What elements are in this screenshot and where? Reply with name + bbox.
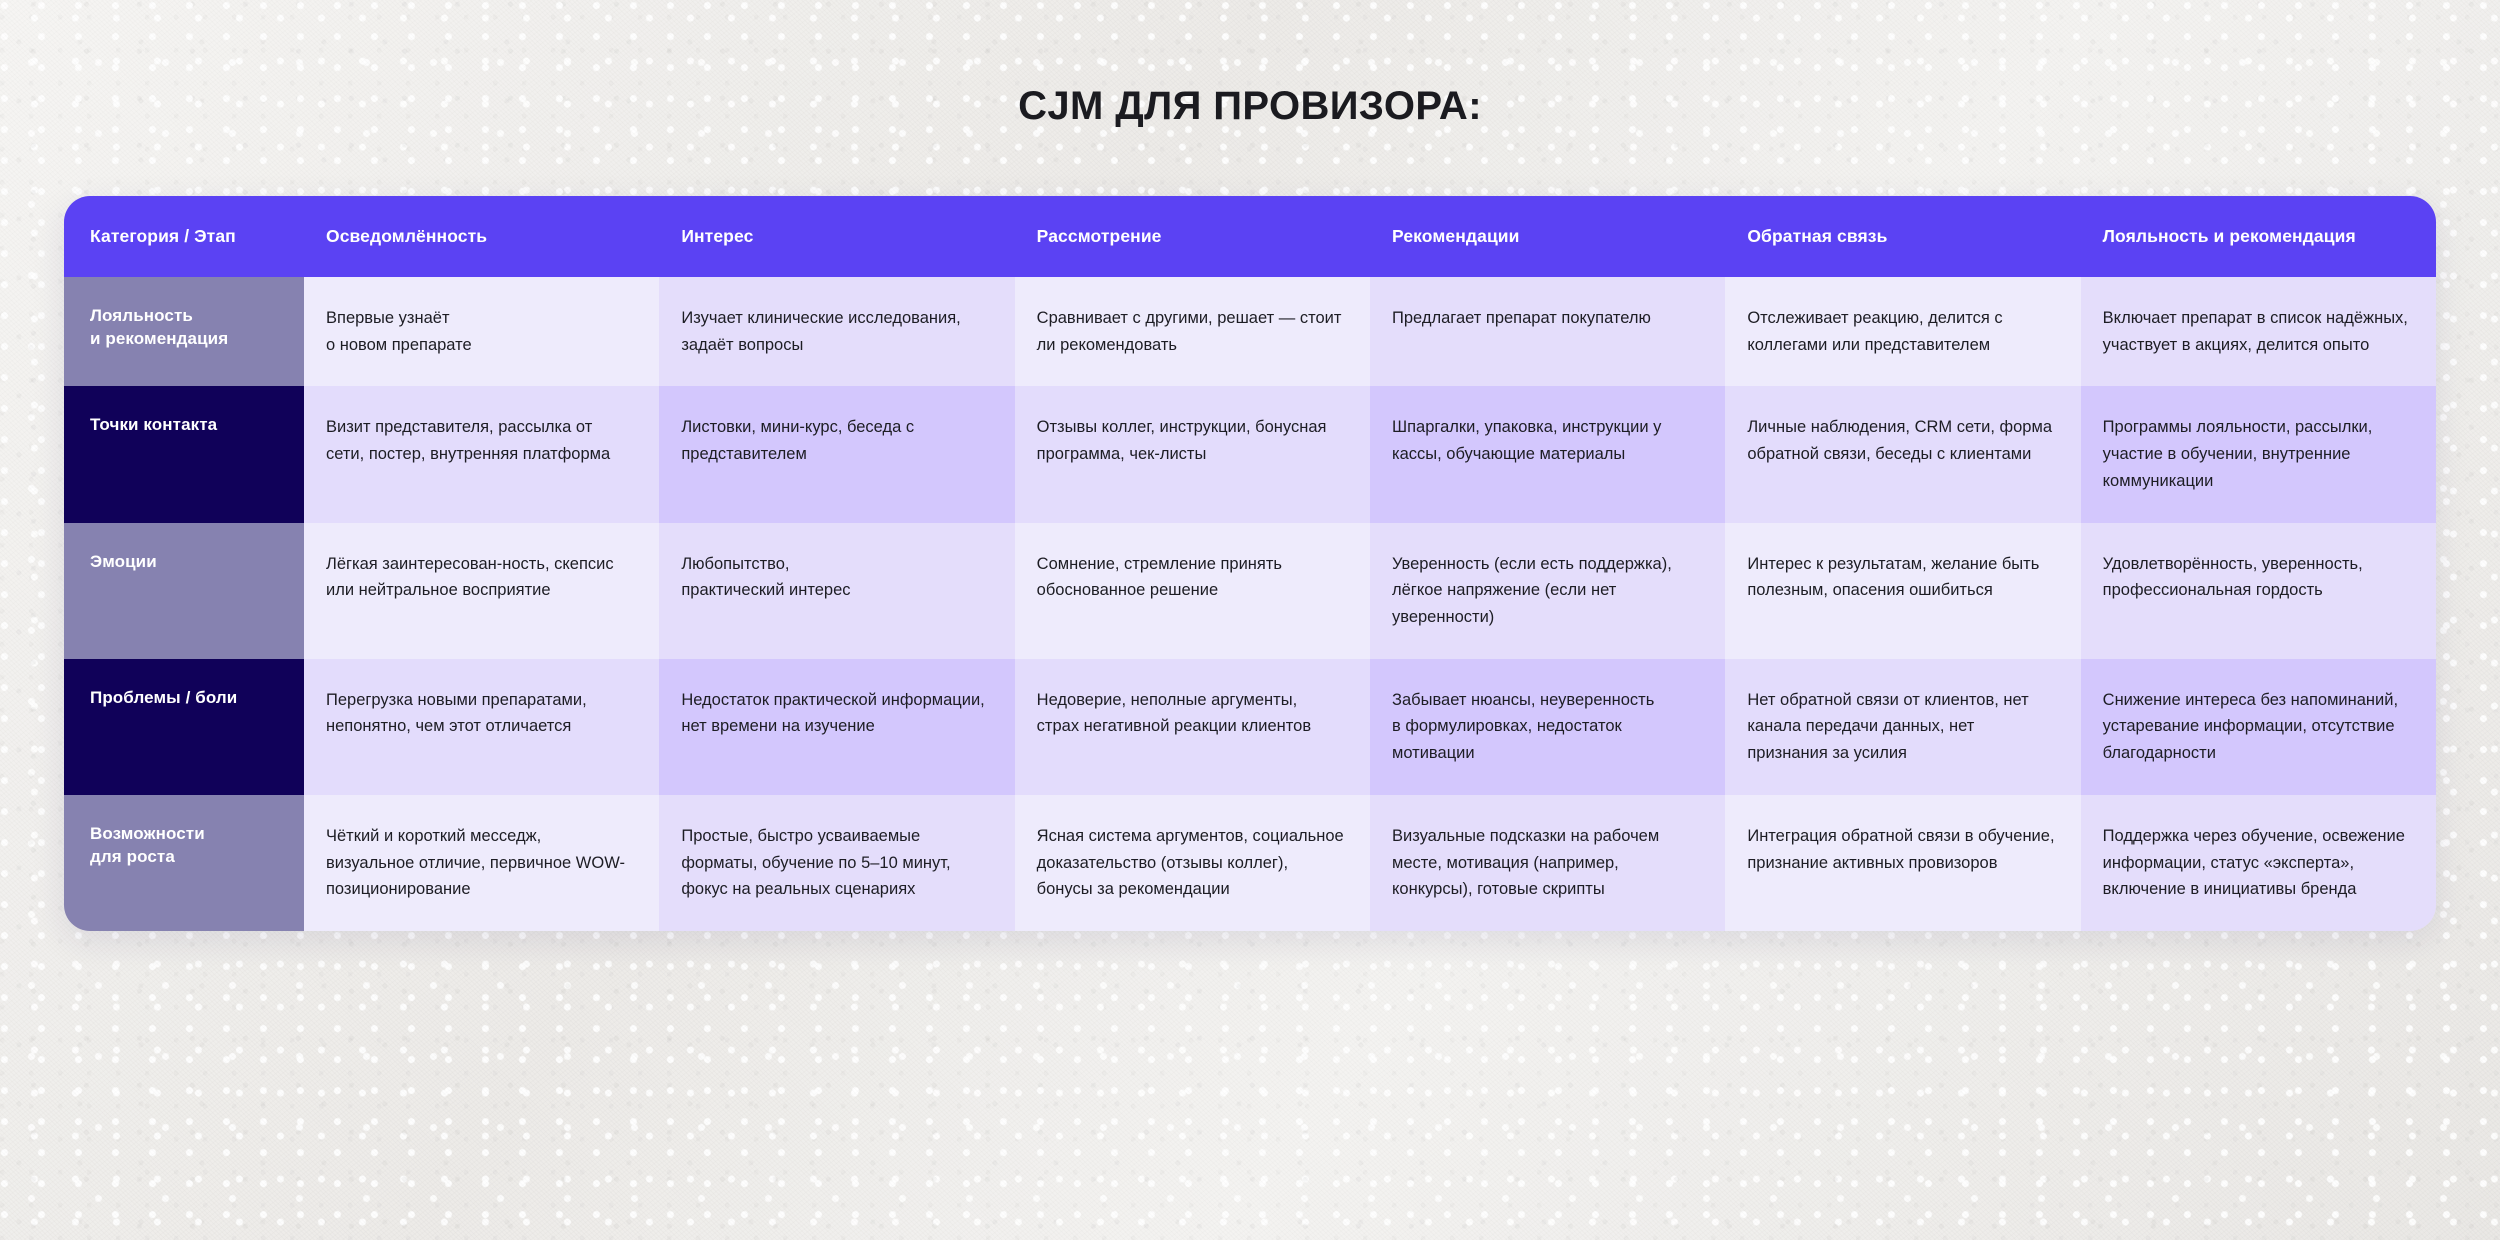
column-header-stage-3: Рассмотрение [1015,196,1370,277]
cjm-table-card: Категория / ЭтапОсведомлённостьИнтересРа… [64,196,2436,931]
table-cell-r2-c5: Личные наблюдения, CRM сети, форма обрат… [1725,386,2080,522]
row-label-проблемы-боли: Проблемы / боли [64,659,304,795]
cjm-table: Категория / ЭтапОсведомлённостьИнтересРа… [64,196,2436,931]
cjm-poster: CJM ДЛЯ ПРОВИЗОРА: Категория / ЭтапОсвед… [0,0,2500,1240]
table-cell-r4-c2: Недостаток практической информации, нет … [659,659,1014,795]
table-cell-r3-c3: Сомнение, стремление принять обоснованно… [1015,523,1370,659]
table-cell-r2-c6: Программы лояльности, рассылки, участие … [2081,386,2436,522]
column-header-stage-5: Обратная связь [1725,196,2080,277]
table-cell-r5-c3: Ясная система аргументов, социальное док… [1015,795,1370,931]
table-cell-r2-c4: Шпаргалки, упаковка, инструкции у кассы,… [1370,386,1725,522]
table-cell-r4-c3: Недоверие, неполные аргументы, страх нег… [1015,659,1370,795]
table-cell-r5-c4: Визуальные подсказки на рабочем месте, м… [1370,795,1725,931]
column-header-category: Категория / Этап [64,196,304,277]
table-cell-r3-c1: Лёгкая заинтересован-ность, скепсис или … [304,523,659,659]
table-cell-r1-c1: Впервые узнаёто новом препарате [304,277,659,386]
table-cell-r3-c6: Удовлетворённость, уверенность, професси… [2081,523,2436,659]
table-cell-r5-c2: Простые, быстро усваиваемые форматы, обу… [659,795,1014,931]
table-cell-r4-c6: Снижение интереса без напоминаний, устар… [2081,659,2436,795]
table-cell-r4-c4: Забывает нюансы, неуверенностьв формулир… [1370,659,1725,795]
table-cell-r3-c4: Уверенность (если есть поддержка), лёгко… [1370,523,1725,659]
table-cell-r2-c1: Визит представителя, рассылка от сети, п… [304,386,659,522]
table-cell-r4-c1: Перегрузка новыми препаратами, непонятно… [304,659,659,795]
table-cell-r5-c1: Чёткий и короткий месседж, визуальное от… [304,795,659,931]
row-label-точки-контакта: Точки контакта [64,386,304,522]
table-cell-r1-c5: Отслеживает реакцию, делится с коллегами… [1725,277,2080,386]
table-cell-r3-c5: Интерес к результатам, желание быть поле… [1725,523,2080,659]
table-cell-r1-c2: Изучает клинические исследования, задаёт… [659,277,1014,386]
row-label-возможности-для-роста: Возможностидля роста [64,795,304,931]
table-cell-r3-c2: Любопытство,практический интерес [659,523,1014,659]
table-cell-r5-c5: Интеграция обратной связи в обучение, пр… [1725,795,2080,931]
table-cell-r2-c2: Листовки, мини-курс, беседа с представит… [659,386,1014,522]
column-header-stage-6: Лояльность и рекомендация [2081,196,2436,277]
column-header-stage-1: Осведомлённость [304,196,659,277]
column-header-stage-4: Рекомендации [1370,196,1725,277]
table-cell-r1-c3: Сравнивает с другими, решает — стоит ли … [1015,277,1370,386]
row-label-лояльность-и-рекомендация: Лояльностьи рекомендация [64,277,304,386]
table-cell-r2-c3: Отзывы коллег, инструкции, бонусная прог… [1015,386,1370,522]
table-cell-r5-c6: Поддержка через обучение, освежение инфо… [2081,795,2436,931]
table-cell-r1-c4: Предлагает препарат покупателю [1370,277,1725,386]
table-cell-r1-c6: Включает препарат в список надёжных, уча… [2081,277,2436,386]
page-title: CJM ДЛЯ ПРОВИЗОРА: [0,84,2500,129]
table-cell-r4-c5: Нет обратной связи от клиентов, нет кана… [1725,659,2080,795]
row-label-эмоции: Эмоции [64,523,304,659]
column-header-stage-2: Интерес [659,196,1014,277]
